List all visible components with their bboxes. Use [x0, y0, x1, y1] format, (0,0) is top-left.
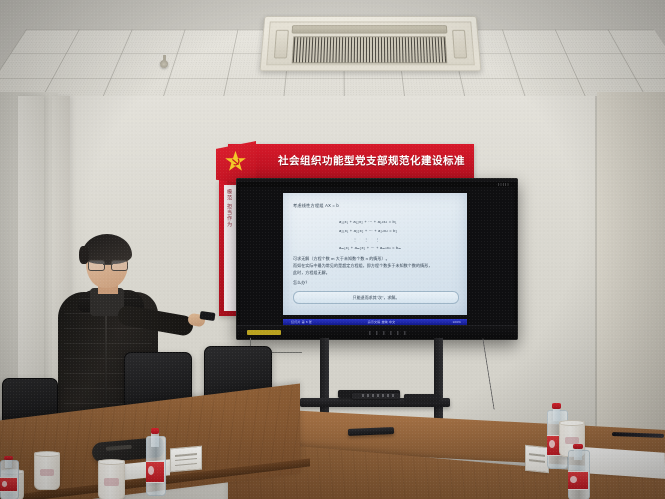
- paper-sheet-right: [585, 447, 665, 479]
- slide-title: 考虑线性方程组 AX = b: [293, 203, 339, 209]
- slide-equation-1: a₁₁x₁ + a₁₂x₂ + ⋯ + a₁ₙxₙ = b₁: [339, 219, 397, 224]
- display-screen-area: 考虑线性方程组 AX = b a₁₁x₁ + a₁₂x₂ + ⋯ + a₁ₙxₙ…: [240, 187, 514, 325]
- slide-ellipsis: ⋮ ⋮ ⋮: [353, 237, 382, 242]
- slide-paragraph-3: 此时，方程组无解。: [293, 269, 457, 276]
- bottle-label: [568, 471, 588, 490]
- remote-control-3[interactable]: [404, 394, 440, 400]
- bottle-neck: [553, 407, 561, 422]
- water-bottle-left-2[interactable]: [0, 456, 17, 499]
- banner-title: 社会组织功能型党支部规范化建设标准: [278, 153, 468, 168]
- bottle-cap: [151, 428, 160, 434]
- display-sticker: [247, 330, 281, 335]
- slide-paragraph-4: 怎么办？: [293, 279, 457, 286]
- bottle-cap: [552, 403, 561, 409]
- bottle-label: [146, 461, 164, 483]
- bottle-cap: [573, 444, 583, 449]
- bottle-neck: [574, 447, 582, 459]
- presentation-slide: 考虑线性方程组 AX = b a₁₁x₁ + a₁₂x₂ + ⋯ + a₁ₙxₙ…: [283, 193, 467, 315]
- slide-equation-2: a₂₁x₁ + a₂₂x₂ + ⋯ + a₂ₙxₙ = b₂: [339, 228, 397, 233]
- status-bar-left: 幻灯片 第 8 张: [291, 320, 312, 324]
- status-bar-center: 演示文稿 放映 中文: [368, 320, 396, 324]
- bottle-label: [0, 477, 17, 492]
- right-wall: [597, 92, 665, 432]
- photo-scene: 党建引领 凝心聚力 规范建设 服务群众 先锋模范 担当作为 不忘初心 牢记使命 …: [0, 0, 665, 499]
- display-bottom-bezel: [237, 325, 517, 339]
- wall-column-outer: [18, 96, 44, 426]
- paper-cup-1[interactable]: [34, 452, 60, 490]
- ac-side-vent-right: [452, 30, 467, 59]
- name-card-right: [525, 445, 549, 474]
- banner-body: 社会组织功能型党支部规范化建设标准: [228, 144, 474, 182]
- name-card-left: [170, 446, 202, 473]
- ceiling-ac-unit: [260, 16, 482, 71]
- water-bottle-left-1[interactable]: [146, 428, 164, 496]
- bottle-neck: [151, 432, 158, 447]
- slide-paragraph-2: 而如在实际中最为常见的是超定方程组，即方程个数多于未知数个数的情形，: [293, 262, 457, 269]
- slide-paragraph-1: 可求无解（方程个数 m 大于未知数个数 n 的情形）。: [293, 255, 457, 262]
- hammer-and-sickle-star-icon: [224, 150, 247, 173]
- bottle-neck: [5, 459, 12, 469]
- status-bar-right: 100%: [453, 320, 461, 324]
- slide-equation-3: aₘ₁x₁ + aₘ₂x₂ + ⋯ + aₘₙxₙ = bₘ: [339, 245, 401, 250]
- water-bottle-right-2[interactable]: [568, 444, 588, 499]
- ac-air-slot: [292, 25, 448, 33]
- remote-keypad: [362, 394, 396, 397]
- interactive-display-panel[interactable]: 考虑线性方程组 AX = b a₁₁x₁ + a₁₂x₂ + ⋯ + a₁ₙxₙ…: [236, 178, 518, 340]
- display-top-bezel: [237, 179, 517, 182]
- paper-cup-2[interactable]: [98, 460, 125, 499]
- slide-callout-box: 只能退而求其"次"，求解。: [293, 291, 459, 304]
- eyeglasses-icon: [88, 260, 128, 269]
- ac-grill: [292, 36, 448, 63]
- display-control-buttons[interactable]: [369, 331, 407, 335]
- sprinkler-head-icon: [160, 60, 168, 68]
- ac-side-vent-left: [274, 30, 289, 59]
- display-ir-sensor: [498, 183, 510, 186]
- bottle-cap: [4, 456, 12, 460]
